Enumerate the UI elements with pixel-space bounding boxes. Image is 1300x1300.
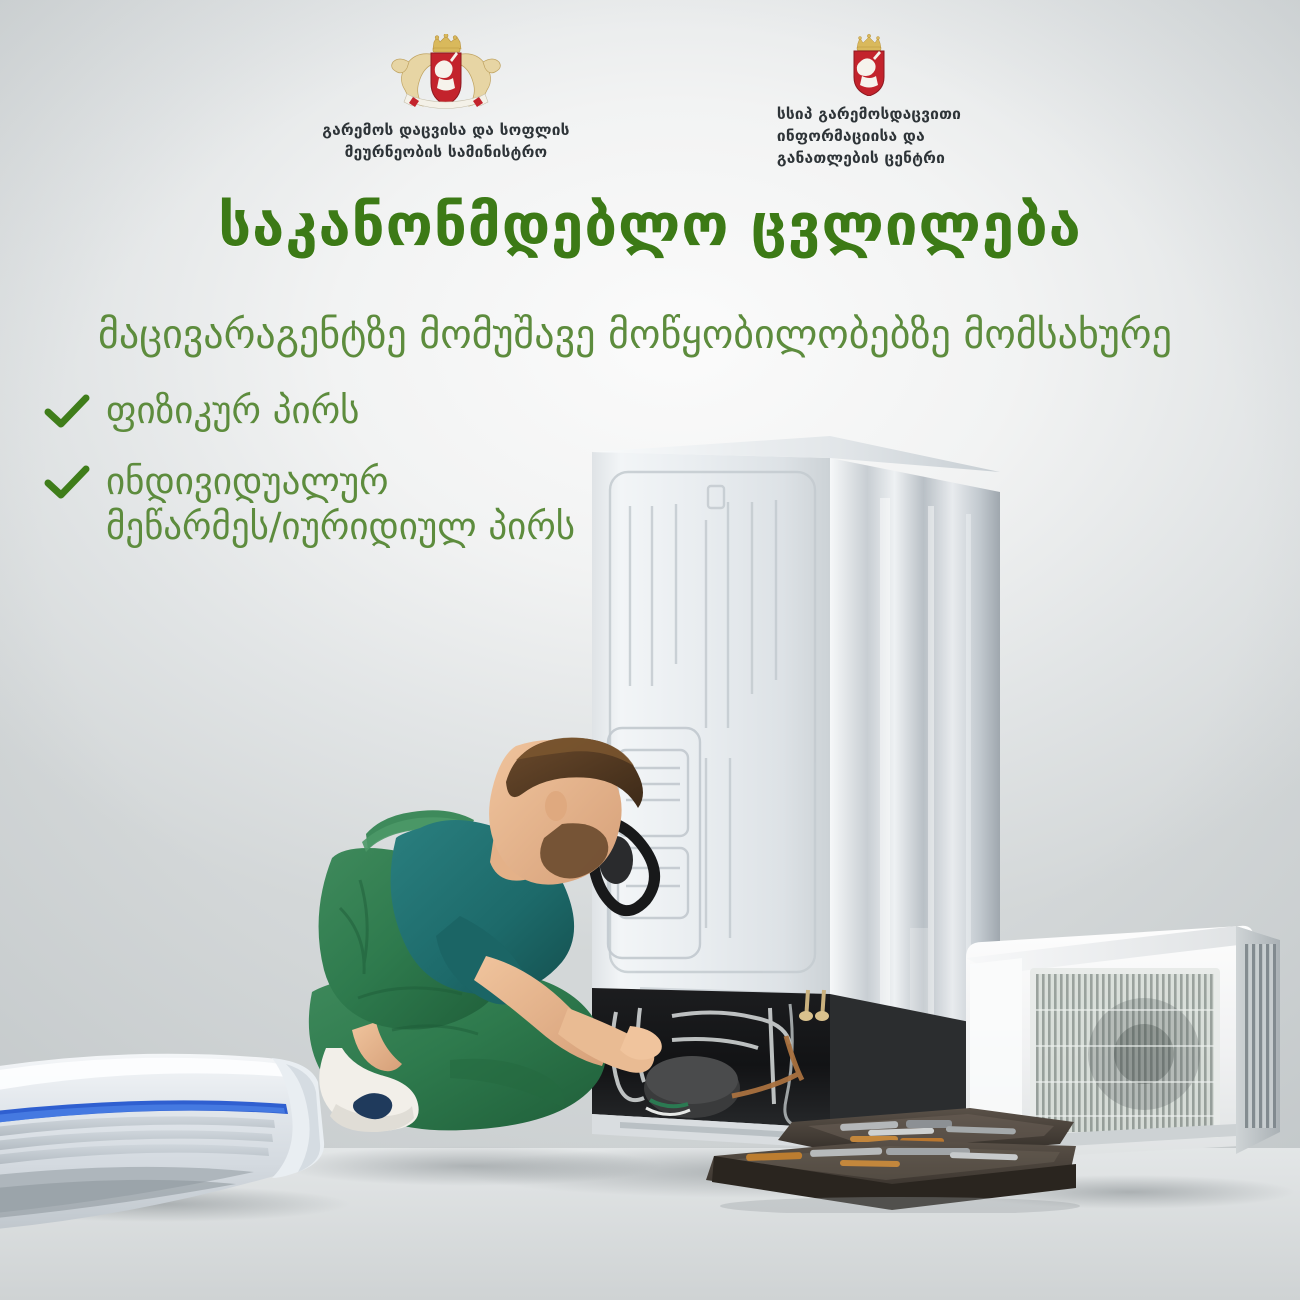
- poster-canvas: გარემოს დაცვისა და სოფლის მეურნეობის სამ…: [0, 0, 1300, 1300]
- ministry-logo-caption: გარემოს დაცვისა და სოფლის მეურნეობის სამ…: [322, 119, 569, 163]
- page-title: საკანონმდებლო ცვლილება: [0, 196, 1300, 254]
- toolbox: [700, 1098, 1090, 1213]
- center-logo-block: სსიპ გარემოსდაცვითი ინფორმაციისა და განა…: [719, 34, 1019, 169]
- technician: [300, 730, 720, 1180]
- list-item: ფიზიკურ პირს: [44, 388, 664, 433]
- list-item: ინდივიდუალურ მეწარმეს/იურიდიულ პირს: [44, 459, 664, 549]
- check-icon: [44, 465, 90, 501]
- georgia-coat-of-arms-full-icon: [387, 34, 505, 112]
- list-item-label: ინდივიდუალურ მეწარმეს/იურიდიულ პირს: [106, 459, 575, 549]
- list-item-label: ფიზიკურ პირს: [106, 388, 360, 433]
- georgia-shield-crown-icon: [843, 34, 895, 96]
- center-logo-caption: სსიპ გარემოსდაცვითი ინფორმაციისა და განა…: [777, 103, 961, 169]
- eligibility-list: ფიზიკურ პირს ინდივიდუალურ მეწარმეს/იურიდ…: [44, 388, 664, 575]
- check-icon: [44, 394, 90, 430]
- ac-indoor-unit: [0, 1046, 356, 1246]
- logo-bar: გარემოს დაცვისა და სოფლის მეურნეობის სამ…: [0, 34, 1300, 169]
- ministry-logo-block: გარემოს დაცვისა და სოფლის მეურნეობის სამ…: [281, 34, 611, 163]
- page-subtitle: მაცივარაგენტზე მომუშავე მოწყობილობებზე მ…: [98, 312, 1218, 358]
